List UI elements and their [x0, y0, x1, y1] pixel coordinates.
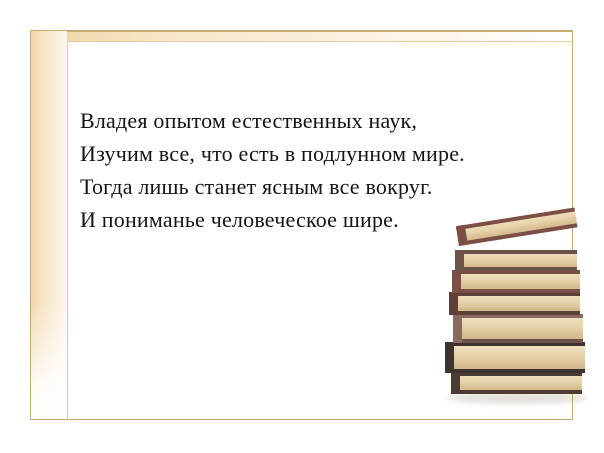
book-item [451, 372, 582, 394]
poem-text-block: Владея опытом естественных наук, Изучим … [80, 104, 500, 236]
book-cover-edge [445, 369, 585, 373]
book-spine [452, 270, 461, 293]
book-cover-edge [455, 267, 577, 271]
poem-line-2: Изучим все, что есть в подлунном мире. [80, 137, 500, 170]
book-cover-edge [449, 311, 580, 315]
frame-band-top [31, 31, 573, 42]
book-cover-edge [453, 339, 583, 343]
book-spine [449, 292, 458, 315]
book-item [455, 250, 577, 271]
poem-line-3: Тогда лишь станет ясным все вокруг. [80, 170, 500, 203]
book-item [453, 314, 583, 343]
frame-band-left [31, 31, 67, 420]
book-item [452, 270, 580, 293]
poem-line-4: И пониманье человеческое шире. [80, 203, 500, 236]
book-cover-edge [452, 289, 580, 293]
poem-line-1: Владея опытом естественных наук, [80, 104, 500, 137]
book-spine [451, 372, 460, 394]
slide-canvas: Владея опытом естественных наук, Изучим … [0, 0, 604, 453]
stack-of-books-image [443, 222, 588, 412]
book-item [445, 342, 585, 373]
book-item [449, 292, 580, 315]
book-spine [445, 342, 454, 373]
book-spine [455, 250, 464, 271]
book-cover-edge [451, 390, 582, 394]
book-spine [453, 314, 462, 343]
book-cover-edge [455, 250, 577, 254]
